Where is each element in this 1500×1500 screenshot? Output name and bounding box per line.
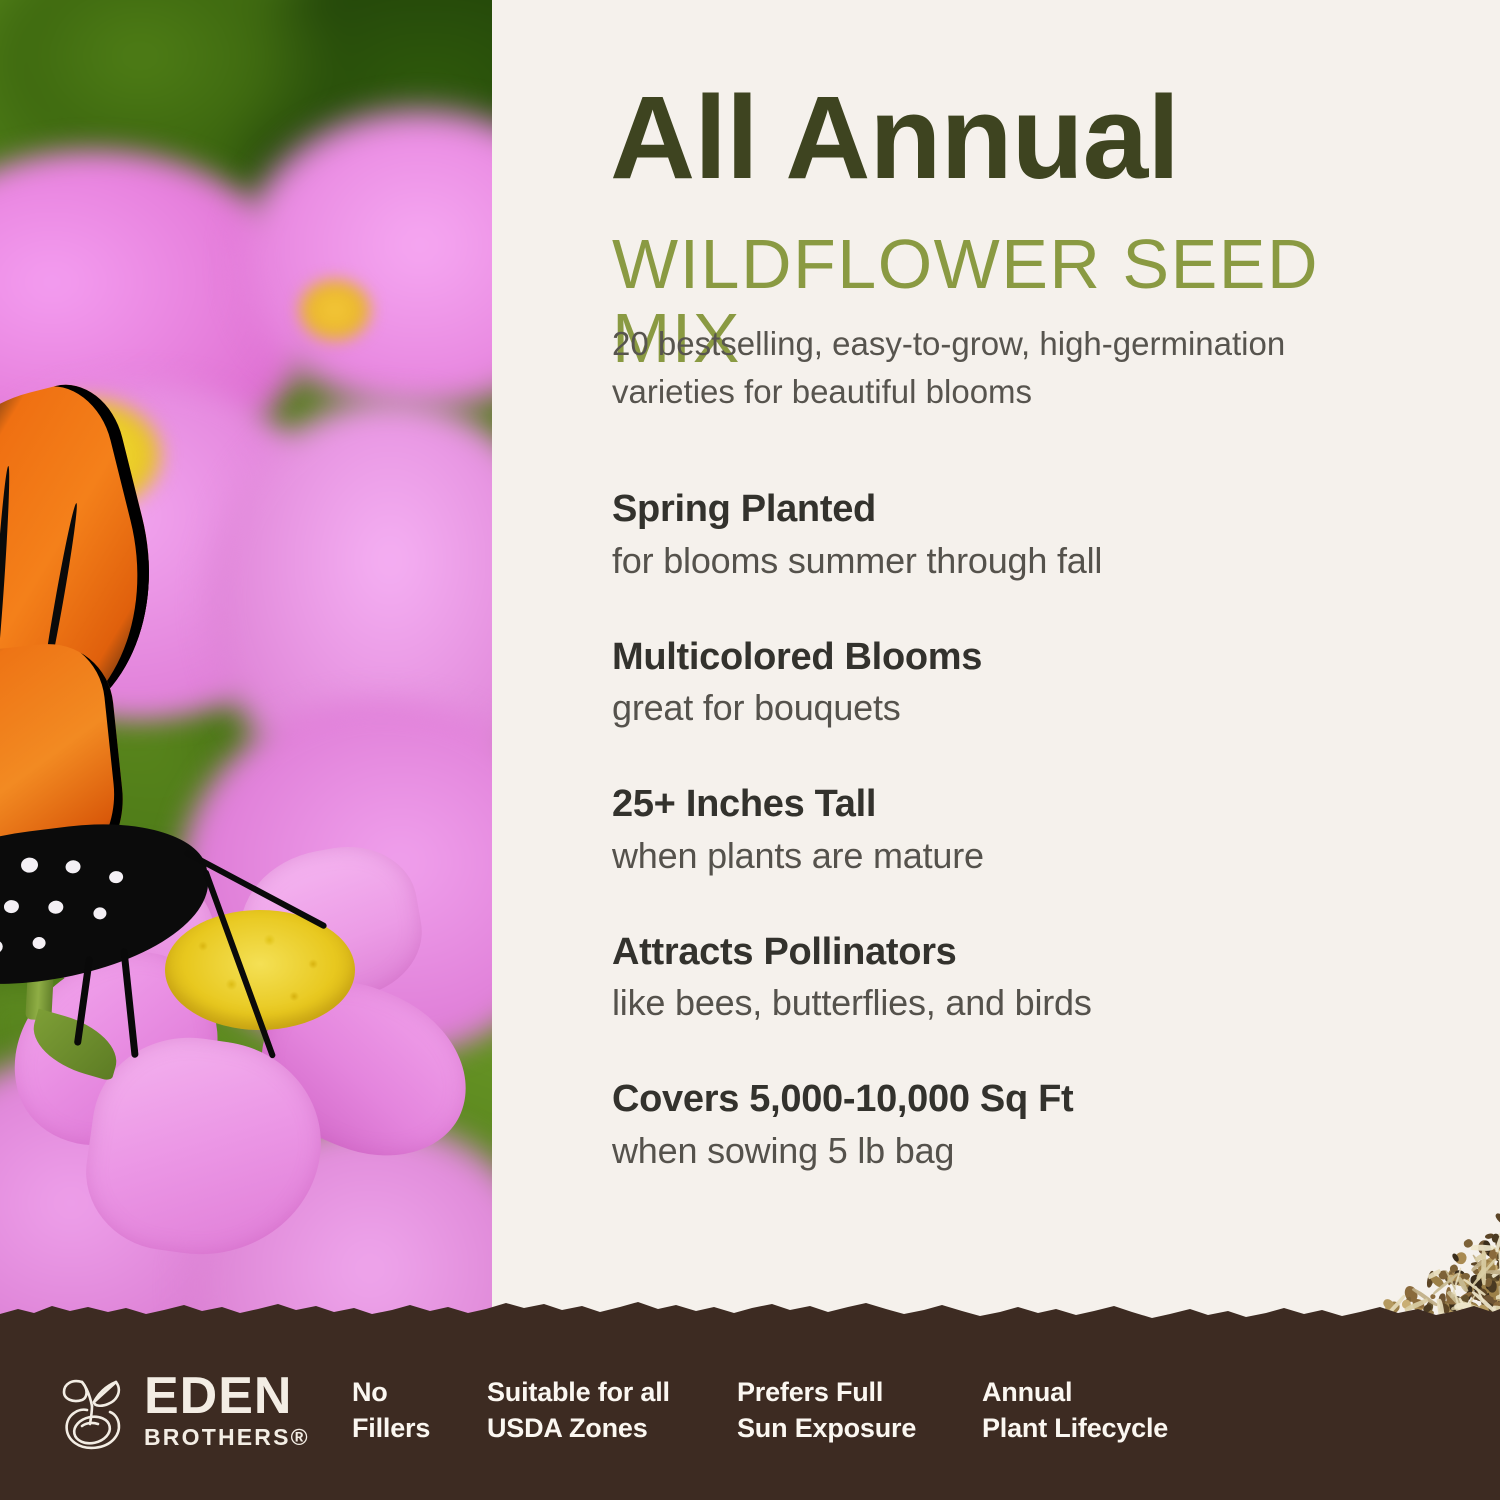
- footer-badges: No FillersSuitable for all USDA ZonesPre…: [306, 1375, 1500, 1446]
- feature-title: Spring Planted: [612, 487, 1432, 533]
- feature-subtitle: great for bouquets: [612, 686, 1432, 730]
- footer-content: EDEN BROTHERS® No FillersSuitable for al…: [0, 1322, 1500, 1500]
- footer-badge: No Fillers: [352, 1375, 487, 1446]
- brand-logo[interactable]: EDEN BROTHERS®: [56, 1368, 306, 1454]
- feature-subtitle: when sowing 5 lb bag: [612, 1129, 1432, 1173]
- monarch-butterfly: [0, 400, 350, 960]
- feature-subtitle: for blooms summer through fall: [612, 539, 1432, 583]
- page-lede: 20 bestselling, easy-to-grow, high-germi…: [612, 320, 1412, 416]
- feature-title: 25+ Inches Tall: [612, 782, 1432, 828]
- feature-title: Attracts Pollinators: [612, 930, 1432, 976]
- feature-subtitle: like bees, butterflies, and birds: [612, 981, 1432, 1025]
- content-panel: All Annual WILDFLOWER SEED MIX 20 bestse…: [492, 0, 1500, 1500]
- brand-name: EDEN: [144, 1372, 310, 1421]
- footer-badge: Suitable for all USDA Zones: [487, 1375, 737, 1446]
- feature-item: Spring Plantedfor blooms summer through …: [612, 487, 1432, 583]
- product-infographic: All Annual WILDFLOWER SEED MIX 20 bestse…: [0, 0, 1500, 1500]
- feature-title: Multicolored Blooms: [612, 635, 1432, 681]
- feature-item: Multicolored Bloomsgreat for bouquets: [612, 635, 1432, 731]
- feature-item: 25+ Inches Tallwhen plants are mature: [612, 782, 1432, 878]
- product-photo: [0, 0, 492, 1500]
- feature-subtitle: when plants are mature: [612, 834, 1432, 878]
- feature-list: Spring Plantedfor blooms summer through …: [612, 487, 1432, 1173]
- sprout-seed-icon: [56, 1368, 130, 1454]
- brand-tagline: BROTHERS®: [144, 1425, 310, 1450]
- blurred-flower-center: [300, 280, 370, 340]
- footer-badge: Prefers Full Sun Exposure: [737, 1375, 982, 1446]
- feature-title: Covers 5,000-10,000 Sq Ft: [612, 1077, 1432, 1123]
- footer-badge: Annual Plant Lifecycle: [982, 1375, 1242, 1446]
- page-title: All Annual: [610, 78, 1410, 198]
- feature-item: Attracts Pollinatorslike bees, butterfli…: [612, 930, 1432, 1026]
- feature-item: Covers 5,000-10,000 Sq Ftwhen sowing 5 l…: [612, 1077, 1432, 1173]
